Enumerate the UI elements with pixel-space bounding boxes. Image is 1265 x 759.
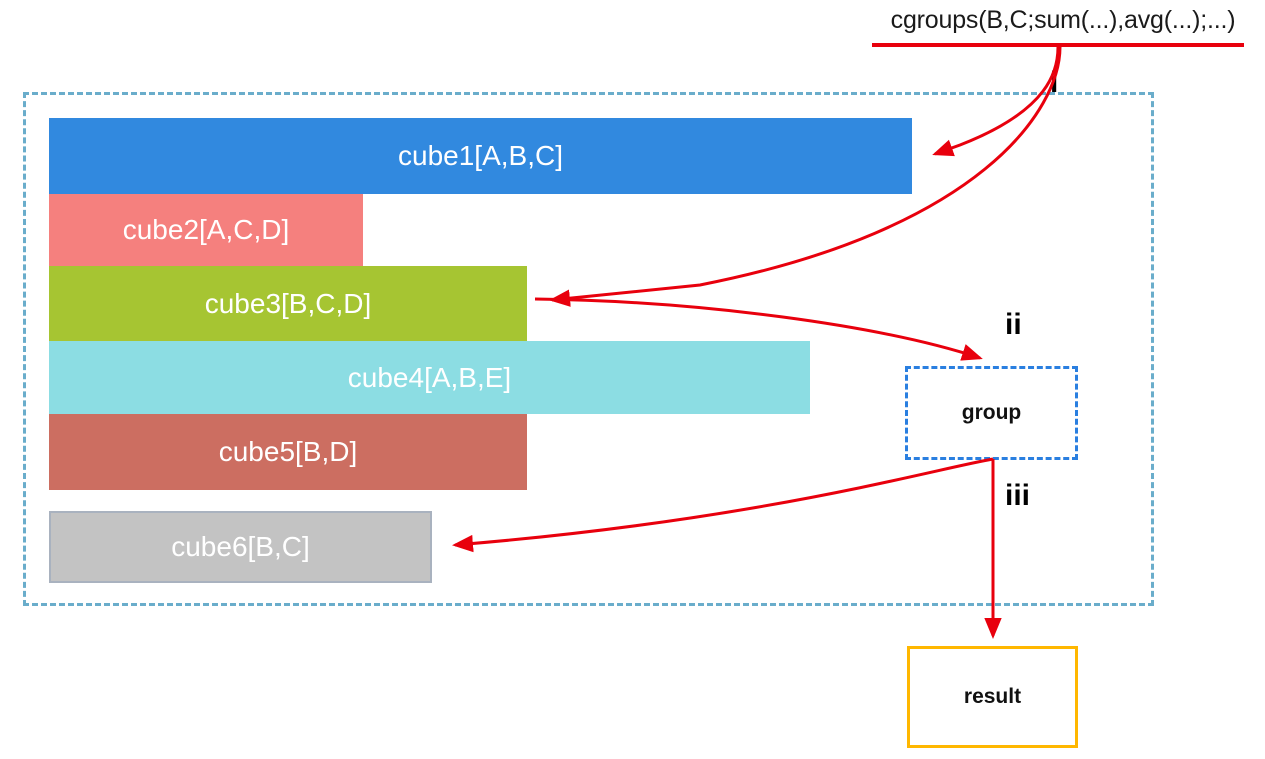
cube-bar-label: cube6[B,C] (171, 531, 310, 563)
result-node[interactable]: result (907, 646, 1078, 748)
cube-bar-cube6[interactable]: cube6[B,C] (49, 511, 432, 583)
cube-bar-label: cube3[B,C,D] (205, 288, 372, 320)
step-marker-i: i (1050, 68, 1058, 98)
result-node-label: result (964, 685, 1021, 709)
cube-bar-label: cube5[B,D] (219, 436, 358, 468)
cube-bar-cube5[interactable]: cube5[B,D] (49, 414, 527, 490)
cube-bar-label: cube4[A,B,E] (348, 362, 511, 394)
group-node-label: group (962, 401, 1021, 425)
cube-bar-cube2[interactable]: cube2[A,C,D] (49, 194, 363, 266)
cgroups-expression-label: cgroups(B,C;sum(...),avg(...);...) (868, 4, 1258, 38)
cube-bar-label: cube2[A,C,D] (123, 214, 290, 246)
cube-bar-cube3[interactable]: cube3[B,C,D] (49, 266, 527, 341)
cube-bar-cube1[interactable]: cube1[A,B,C] (49, 118, 912, 194)
group-node[interactable]: group (905, 366, 1078, 460)
cube-bar-label: cube1[A,B,C] (398, 140, 563, 172)
cube-bar-cube4[interactable]: cube4[A,B,E] (49, 341, 810, 414)
expression-underline (872, 43, 1244, 47)
diagram-canvas: cgroups(B,C;sum(...),avg(...);...) cube1… (0, 0, 1265, 759)
step-marker-ii: ii (1005, 310, 1022, 340)
step-marker-iii: iii (1005, 481, 1030, 511)
